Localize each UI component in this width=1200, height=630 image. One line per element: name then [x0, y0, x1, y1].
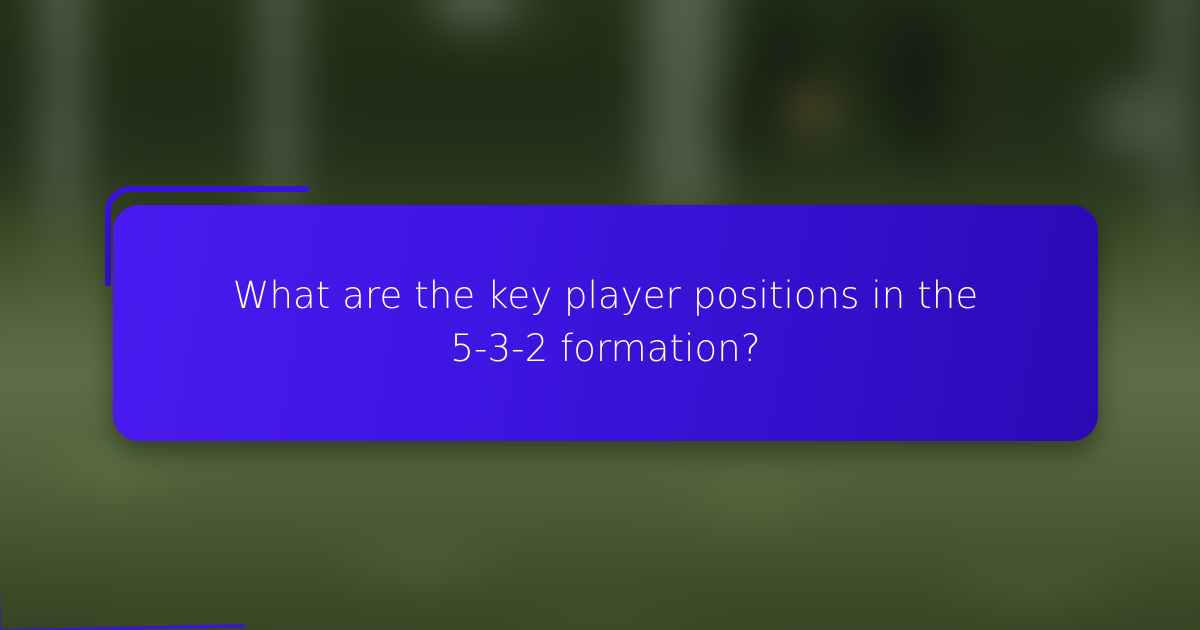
social-card-canvas: What are the key player positions in the… — [0, 0, 1200, 630]
question-card: What are the key player positions in the… — [113, 205, 1098, 441]
question-text: What are the key player positions in the… — [187, 270, 1025, 375]
question-card-stack: What are the key player positions in the… — [105, 182, 1105, 450]
